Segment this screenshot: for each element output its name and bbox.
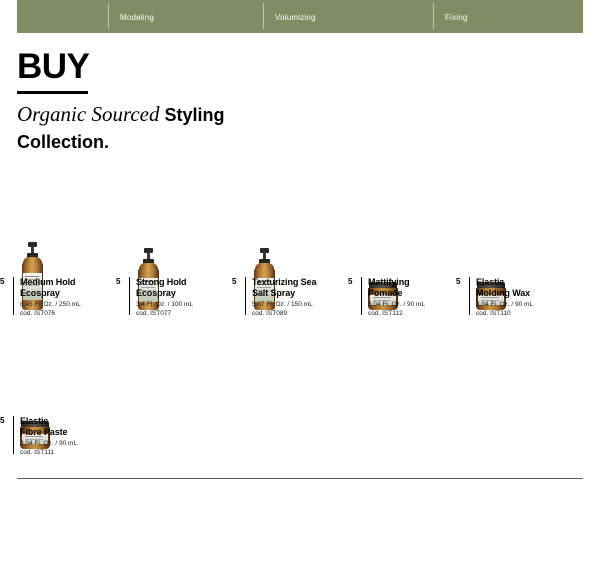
product-name-line-1: Mattifying (368, 277, 425, 288)
product-quantity: 5 (232, 277, 236, 286)
product-name-line-2: Fibre Paste (20, 427, 77, 438)
footer-divider (17, 478, 583, 479)
product-code: cod. IST076 (20, 310, 81, 318)
product-name-line-1: Elastic (20, 416, 77, 427)
product-name: Texturizing SeaSalt Spray (252, 277, 316, 298)
product-size: 3.04 Fl. Oz. / 90 mL (368, 301, 425, 309)
product-card[interactable]: 5Medium HoldEcospray8.45 Fl. Oz. / 250 m… (0, 277, 81, 318)
product-name-line-2: Ecospray (136, 288, 193, 299)
product-quantity: 5 (0, 416, 4, 425)
product-code: cod. IST112 (368, 310, 425, 318)
product-name-line-2: Salt Spray (252, 288, 316, 299)
subtitle-line-1: Organic Sourced Styling (17, 103, 517, 127)
category-label: Modeling (120, 13, 154, 22)
product-name: ElasticFibre Paste (20, 416, 77, 437)
page-headline: BUY Organic Sourced Styling Collection. (17, 49, 517, 153)
product-details: ElasticMolding Wax3.04 Fl. Oz. / 90 mLco… (476, 277, 533, 318)
product-card[interactable]: 5ElasticFibre Paste3.04 Fl. Oz. / 90 mLc… (0, 416, 77, 457)
caption-divider (469, 277, 470, 315)
product-details: MattifyingPomade3.04 Fl. Oz. / 90 mLcod.… (368, 277, 425, 318)
product-size: 3.04 Fl. Oz. / 90 mL (476, 301, 533, 309)
product-caption: 5ElasticMolding Wax3.04 Fl. Oz. / 90 mLc… (456, 277, 533, 318)
product-caption: 5Strong HoldEcospray3.4 Fl. Oz. / 100 mL… (116, 277, 193, 318)
product-card[interactable]: 5ElasticMolding Wax3.04 Fl. Oz. / 90 mLc… (456, 277, 533, 318)
product-details: Texturizing SeaSalt Spray5.07 Fl. Oz. / … (252, 277, 316, 318)
product-caption: 5ElasticFibre Paste3.04 Fl. Oz. / 90 mLc… (0, 416, 77, 457)
product-name-line-1: Elastic (476, 277, 533, 288)
category-label: Volumizing (275, 13, 316, 22)
product-name-line-1: Strong Hold (136, 277, 193, 288)
product-quantity: 5 (456, 277, 460, 286)
caption-divider (129, 277, 130, 315)
product-details: Strong HoldEcospray3.4 Fl. Oz. / 100 mLc… (136, 277, 193, 318)
product-quantity: 5 (116, 277, 120, 286)
product-details: Medium HoldEcospray8.45 Fl. Oz. / 250 mL… (20, 277, 81, 318)
product-name: Medium HoldEcospray (20, 277, 81, 298)
product-name: ElasticMolding Wax (476, 277, 533, 298)
category-divider (263, 3, 264, 29)
product-card[interactable]: 5MattifyingPomade3.04 Fl. Oz. / 90 mLcod… (348, 277, 425, 318)
product-code: cod. IST089 (252, 310, 316, 318)
product-name-line-2: Ecospray (20, 288, 81, 299)
product-caption: 5Medium HoldEcospray8.45 Fl. Oz. / 250 m… (0, 277, 81, 318)
product-code: cod. IST110 (476, 310, 533, 318)
category-bar: ModelingVolumizingFixing (17, 0, 583, 33)
product-name: Strong HoldEcospray (136, 277, 193, 298)
product-name-line-1: Texturizing Sea (252, 277, 316, 288)
product-caption: 5MattifyingPomade3.04 Fl. Oz. / 90 mLcod… (348, 277, 425, 318)
caption-divider (13, 416, 14, 454)
subtitle-italic: Organic Sourced (17, 102, 160, 126)
product-caption: 5Texturizing SeaSalt Spray5.07 Fl. Oz. /… (232, 277, 316, 318)
category-divider (108, 3, 109, 29)
product-size: 8.45 Fl. Oz. / 250 mL (20, 301, 81, 309)
product-size: 3.04 Fl. Oz. / 90 mL (20, 440, 77, 448)
product-card[interactable]: 5Texturizing SeaSalt Spray5.07 Fl. Oz. /… (232, 277, 316, 318)
product-card[interactable]: 5Strong HoldEcospray3.4 Fl. Oz. / 100 mL… (116, 277, 193, 318)
product-code: cod. IST077 (136, 310, 193, 318)
product-quantity: 5 (348, 277, 352, 286)
product-code: cod. IST111 (20, 449, 77, 457)
category-label: Fixing (445, 13, 468, 22)
product-name-line-1: Medium Hold (20, 277, 81, 288)
category-divider (433, 3, 434, 29)
product-size: 3.4 Fl. Oz. / 100 mL (136, 301, 193, 309)
subtitle-line-2: Collection. (17, 132, 517, 153)
title-underline (17, 91, 88, 94)
product-name-line-2: Molding Wax (476, 288, 533, 299)
page-title: BUY (17, 49, 517, 85)
caption-divider (13, 277, 14, 315)
caption-divider (361, 277, 362, 315)
product-name-line-2: Pomade (368, 288, 425, 299)
subtitle-bold: Styling (160, 105, 225, 125)
product-quantity: 5 (0, 277, 4, 286)
caption-divider (245, 277, 246, 315)
product-details: ElasticFibre Paste3.04 Fl. Oz. / 90 mLco… (20, 416, 77, 457)
product-size: 5.07 Fl. Oz. / 150 mL (252, 301, 316, 309)
product-name: MattifyingPomade (368, 277, 425, 298)
